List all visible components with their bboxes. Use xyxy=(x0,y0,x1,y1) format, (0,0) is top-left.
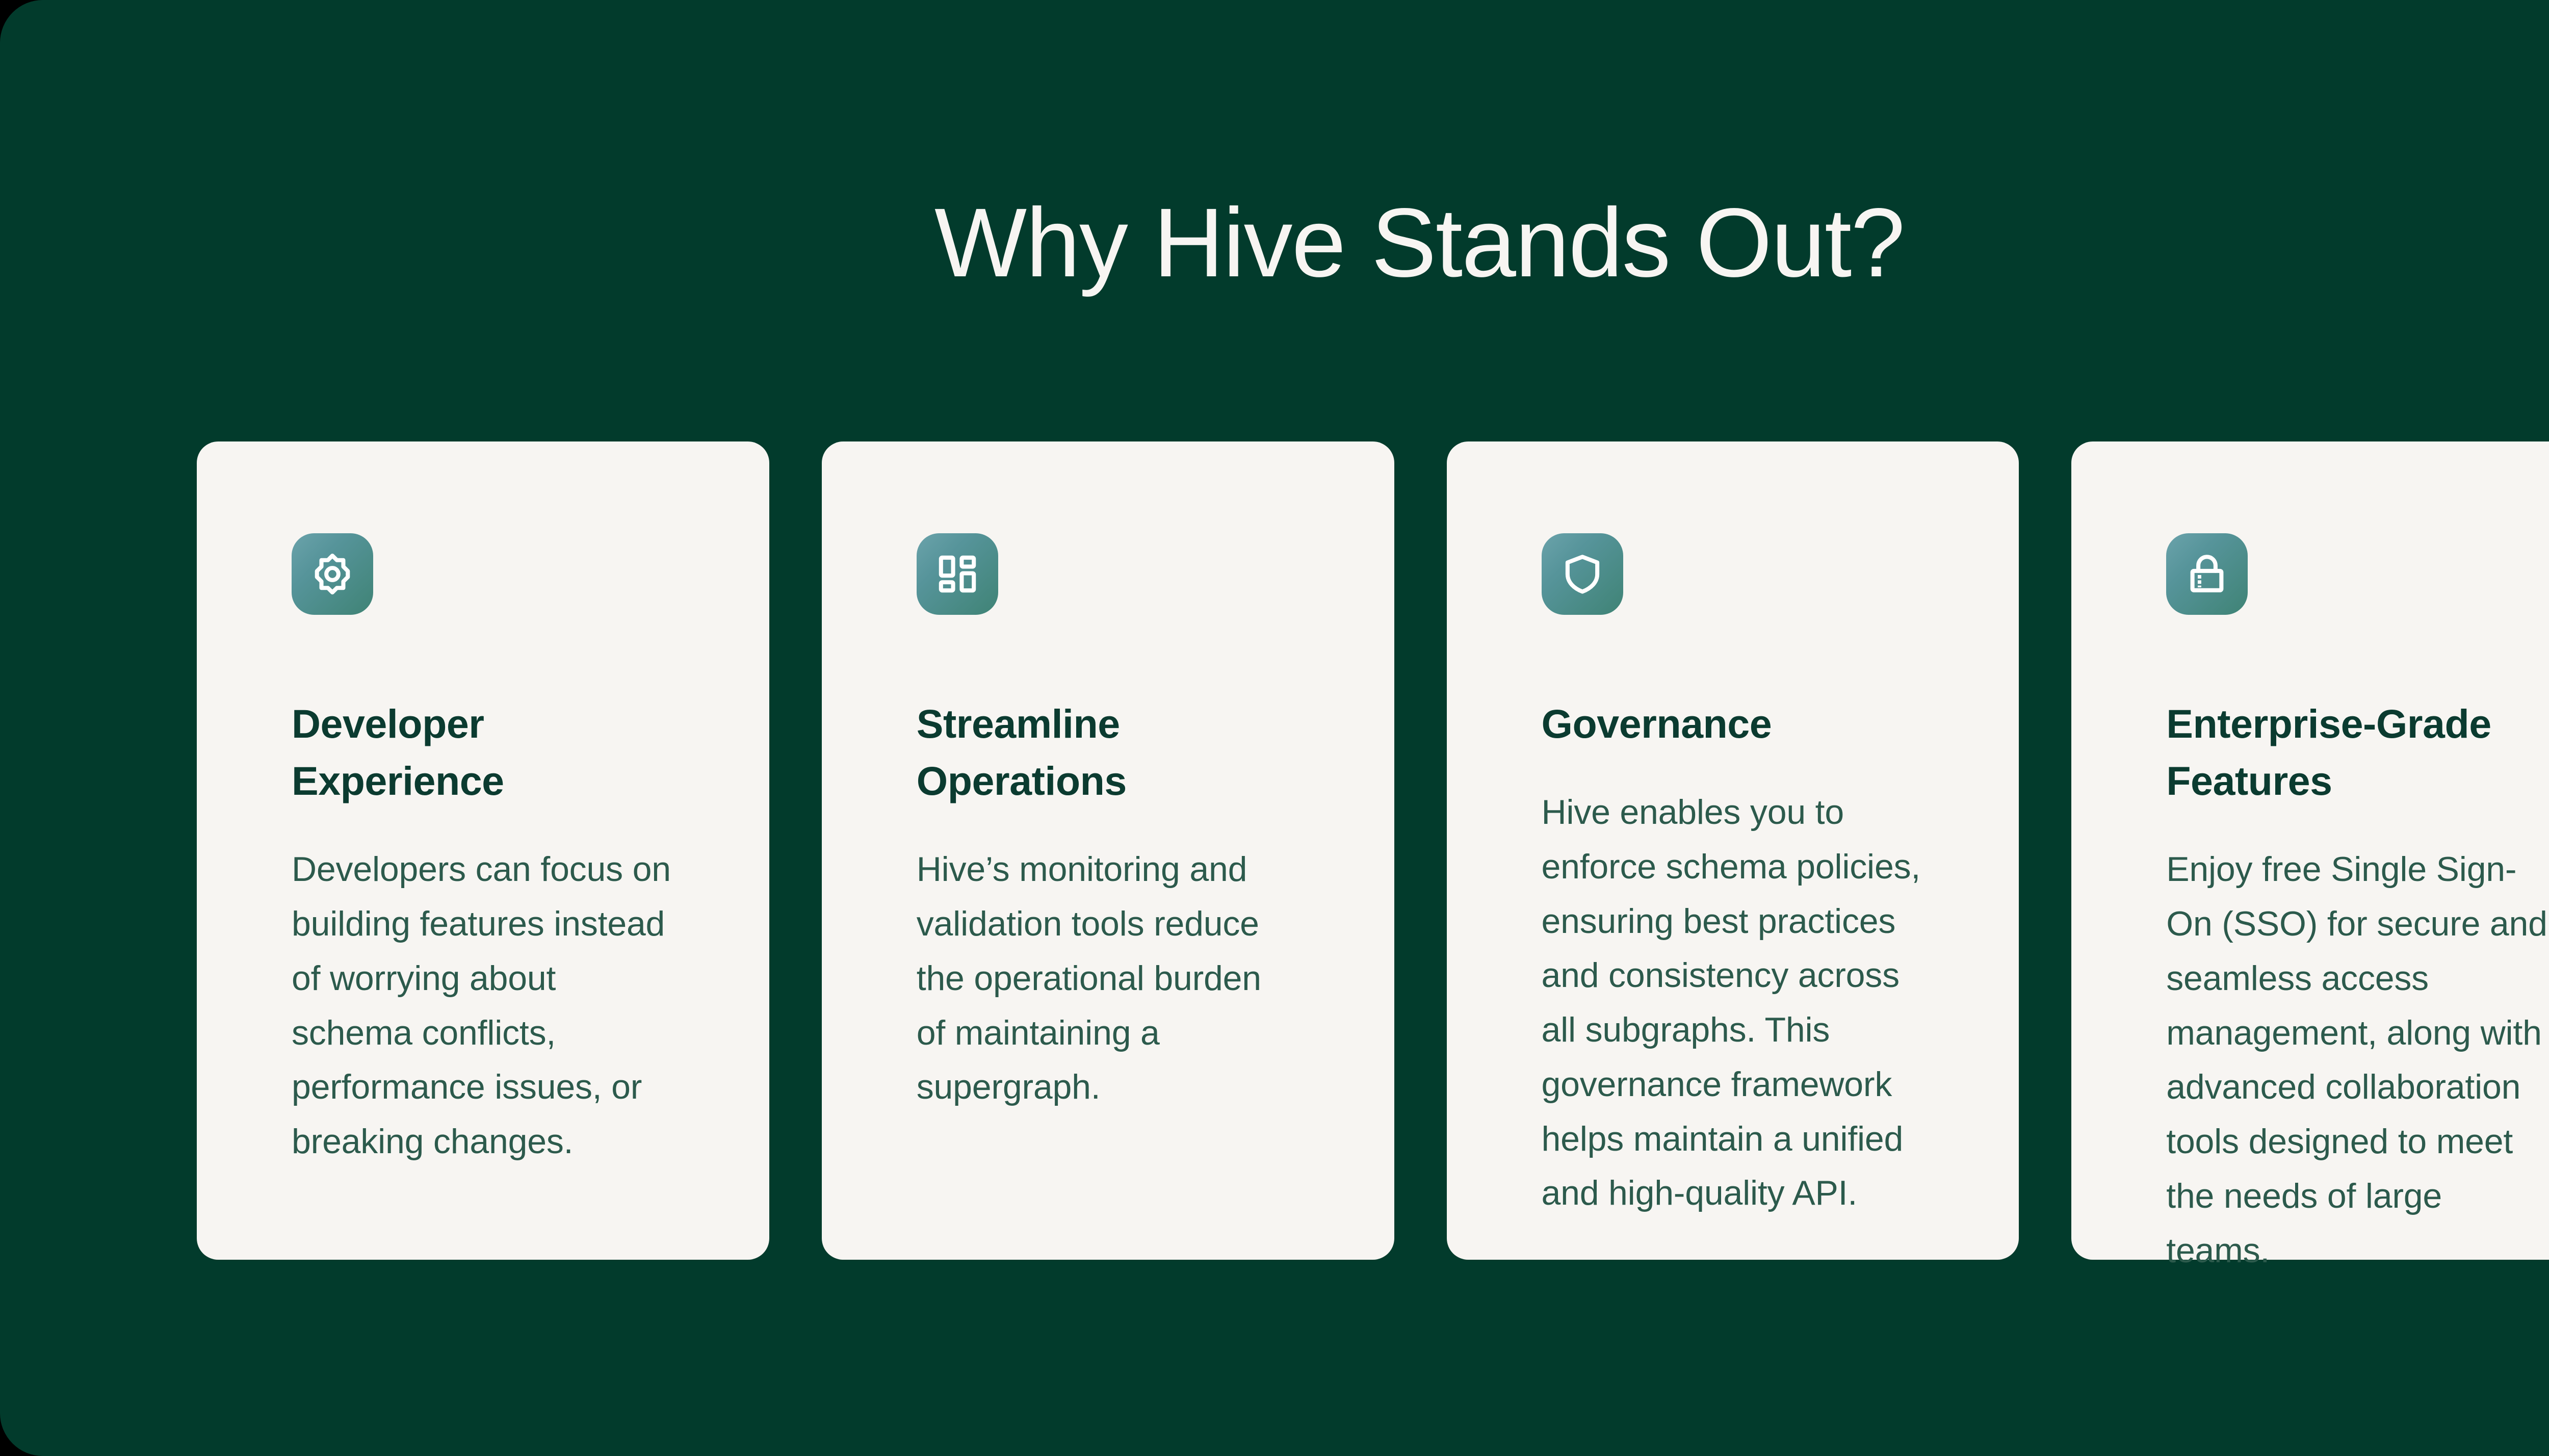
feature-card-body: Hive’s monitoring and validation tools r… xyxy=(917,842,1299,1114)
feature-card-title: Developer Experience xyxy=(292,695,674,810)
dashboard-layout-icon xyxy=(917,533,998,615)
lock-icon xyxy=(2166,533,2248,615)
feature-card-title: Enterprise-Grade Features xyxy=(2166,695,2549,810)
feature-card[interactable]: Developer Experience Developers can focu… xyxy=(197,441,769,1260)
feature-card-list: Developer Experience Developers can focu… xyxy=(197,441,2549,1260)
gear-settings-icon xyxy=(292,533,373,615)
feature-card[interactable]: Streamline Operations Hive’s monitoring … xyxy=(822,441,1394,1260)
feature-card[interactable]: Governance Hive enables you to enforce s… xyxy=(1447,441,2019,1260)
feature-section: Why Hive Stands Out? Developer Experienc… xyxy=(0,0,2549,1456)
feature-card-body: Hive enables you to enforce schema polic… xyxy=(1542,785,1924,1220)
feature-card[interactable]: Enterprise-Grade Features Enjoy free Sin… xyxy=(2071,441,2549,1260)
feature-card-title: Streamline Operations xyxy=(917,695,1299,810)
feature-card-body: Enjoy free Single Sign-On (SSO) for secu… xyxy=(2166,842,2549,1278)
feature-card-title: Governance xyxy=(1542,695,1772,752)
shield-icon xyxy=(1542,533,1623,615)
page-title: Why Hive Stands Out? xyxy=(0,188,2549,297)
feature-card-body: Developers can focus on building feature… xyxy=(292,842,674,1169)
